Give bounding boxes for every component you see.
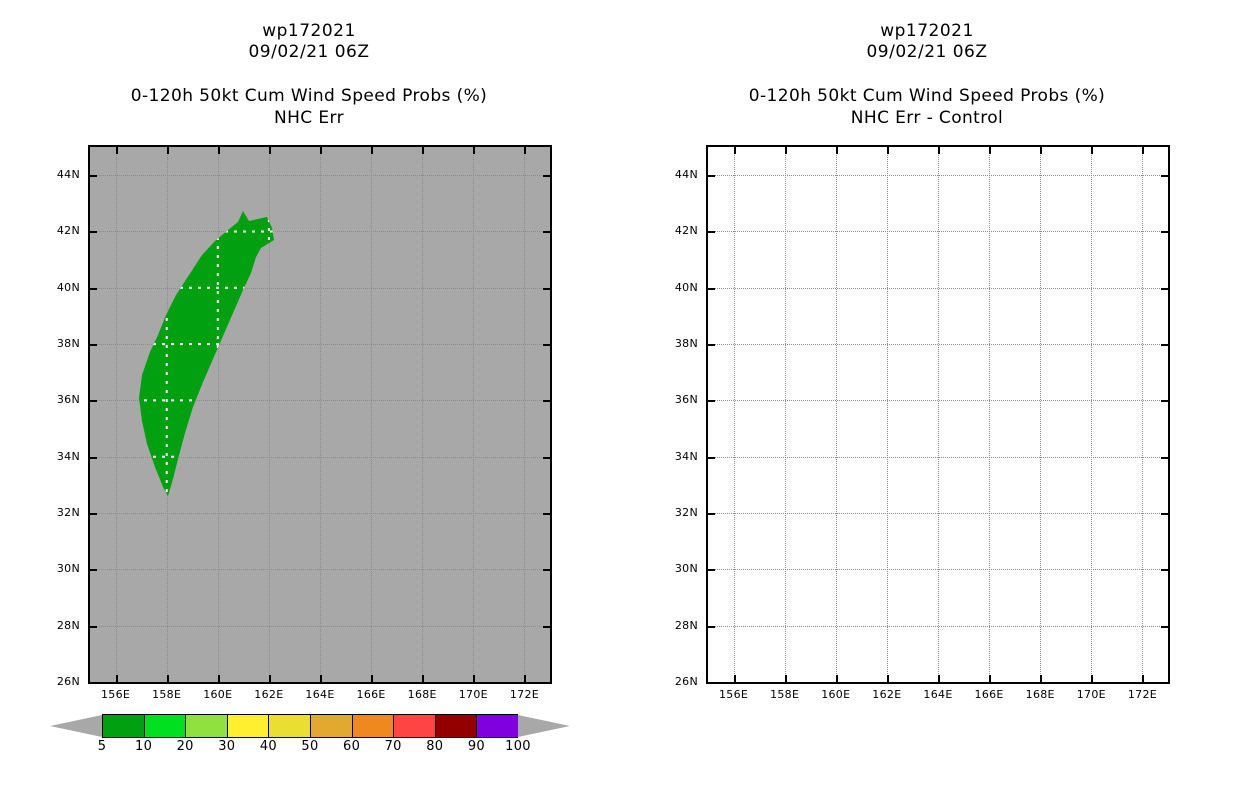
valid-time-left: 09/02/21 06Z: [0, 41, 618, 63]
panel-right-titles: wp172021 09/02/21 06Z 0-120h 50kt Cum Wi…: [618, 0, 1236, 129]
y-axis-label: 42N: [658, 224, 698, 237]
colorbar-swatch: [393, 714, 435, 738]
chart-subtitle-left: NHC Err: [0, 107, 618, 129]
y-axis-label: 32N: [40, 506, 80, 519]
colorbar-swatch: [268, 714, 310, 738]
colorbar-swatch: [352, 714, 394, 738]
valid-time-right: 09/02/21 06Z: [618, 41, 1236, 63]
y-axis-tick: [1161, 682, 1168, 684]
colorbar-left[interactable]: 5102030405060708090100: [50, 714, 570, 774]
y-axis-label: 44N: [40, 168, 80, 181]
colorbar-under-cap: [50, 714, 102, 738]
y-axis-label: 28N: [658, 619, 698, 632]
y-axis-tick: [543, 682, 550, 684]
chart-title-right: 0-120h 50kt Cum Wind Speed Probs (%): [618, 85, 1236, 107]
y-axis-label: 30N: [658, 562, 698, 575]
colorbar-tick-label: 10: [135, 739, 152, 754]
y-axis-label: 28N: [40, 619, 80, 632]
map-background-right: [708, 147, 1168, 682]
y-axis-label: 38N: [40, 337, 80, 350]
colorbar-tick-label: 5: [98, 739, 107, 754]
y-axis-label: 26N: [40, 675, 80, 688]
panel-nhc-err: wp172021 09/02/21 06Z 0-120h 50kt Cum Wi…: [0, 0, 618, 800]
x-axis-label: 172E: [494, 688, 554, 701]
colorbar-swatch: [227, 714, 269, 738]
y-axis-label: 34N: [658, 450, 698, 463]
probability-contour-shading: [90, 147, 550, 682]
colorbar-tick-label: 90: [468, 739, 485, 754]
figure-root: wp172021 09/02/21 06Z 0-120h 50kt Cum Wi…: [0, 0, 1236, 800]
x-axis-label: 172E: [1112, 688, 1172, 701]
panel-nhc-err-minus-control: wp172021 09/02/21 06Z 0-120h 50kt Cum Wi…: [618, 0, 1236, 800]
y-axis-label: 26N: [658, 675, 698, 688]
y-axis-label: 40N: [658, 281, 698, 294]
storm-id-right: wp172021: [618, 22, 1236, 41]
y-axis-tick: [708, 682, 715, 684]
y-axis-label: 40N: [40, 281, 80, 294]
gridline-lat: [90, 682, 550, 684]
colorbar-tick-label: 70: [385, 739, 402, 754]
y-axis-label: 44N: [658, 168, 698, 181]
colorbar-tick-label: 100: [505, 739, 531, 754]
y-axis-label: 36N: [658, 393, 698, 406]
colorbar-swatch: [185, 714, 227, 738]
y-axis-label: 34N: [40, 450, 80, 463]
y-axis-tick: [90, 682, 97, 684]
colorbar-left-swatches: [50, 714, 570, 738]
chart-title-left: 0-120h 50kt Cum Wind Speed Probs (%): [0, 85, 618, 107]
colorbar-swatch: [476, 714, 518, 738]
storm-id-left: wp172021: [0, 22, 618, 41]
colorbar-tick-label: 40: [260, 739, 277, 754]
y-axis-label: 42N: [40, 224, 80, 237]
colorbar-tick-label: 80: [426, 739, 443, 754]
colorbar-tick-label: 60: [343, 739, 360, 754]
y-axis-label: 36N: [40, 393, 80, 406]
colorbar-tick-label: 30: [218, 739, 235, 754]
chart-subtitle-right: NHC Err - Control: [618, 107, 1236, 129]
colorbar-over-cap: [518, 714, 570, 738]
map-plot-right[interactable]: [706, 145, 1170, 684]
gridline-lat: [708, 682, 1168, 684]
colorbar-tick-label: 20: [177, 739, 194, 754]
y-axis-label: 32N: [658, 506, 698, 519]
colorbar-tick-label: 50: [301, 739, 318, 754]
map-plot-left[interactable]: [88, 145, 552, 684]
colorbar-swatch: [435, 714, 477, 738]
panel-left-titles: wp172021 09/02/21 06Z 0-120h 50kt Cum Wi…: [0, 0, 618, 129]
colorbar-swatch: [310, 714, 352, 738]
y-axis-label: 38N: [658, 337, 698, 350]
colorbar-swatch: [144, 714, 186, 738]
colorbar-swatch: [102, 714, 144, 738]
y-axis-label: 30N: [40, 562, 80, 575]
colorbar-left-ticklabels: 5102030405060708090100: [50, 739, 570, 759]
